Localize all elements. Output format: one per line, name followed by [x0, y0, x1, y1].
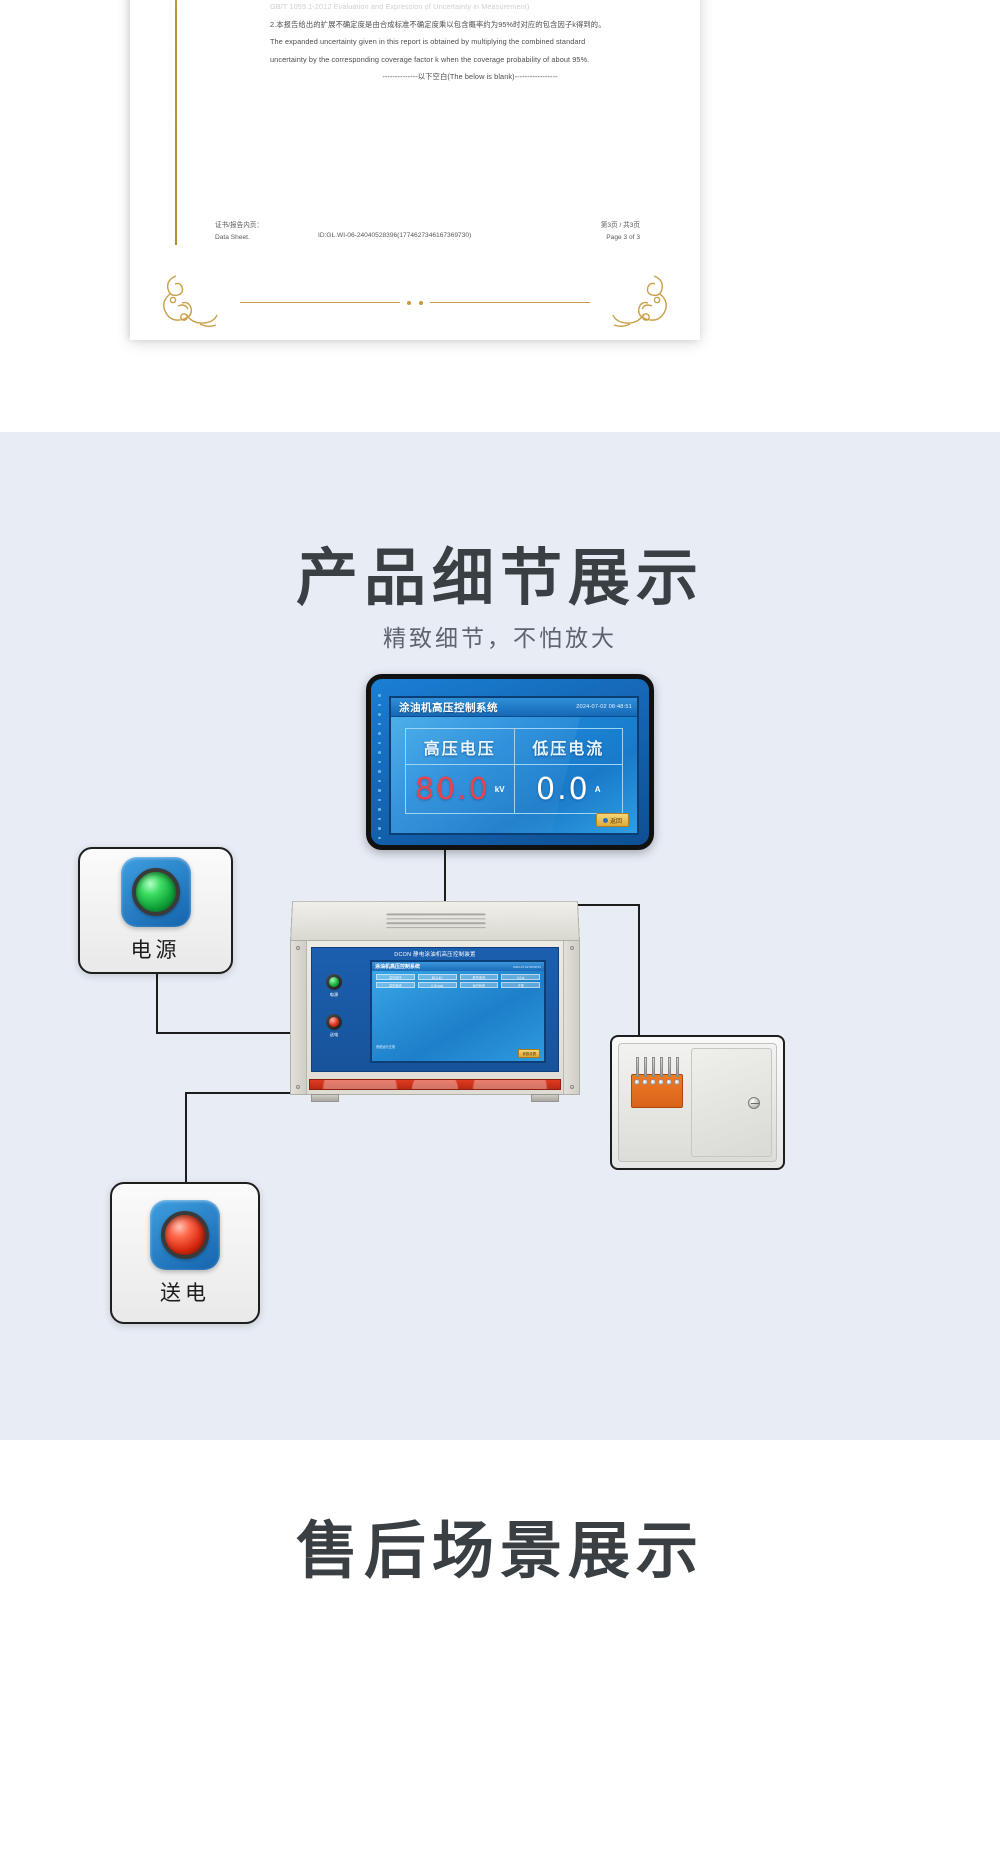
table-cell: 80.0 kV: [418, 974, 457, 980]
table-cell: 正常: [501, 982, 540, 988]
hmi-titlebar: 涂油机高压控制系统 2024-07-02 08:48:51: [391, 698, 637, 717]
callout-energize-indicator: 送电: [110, 1182, 260, 1324]
cert-id-text: ID:GL.WI-06-24040528396(1774627346167369…: [318, 230, 471, 242]
readout-unit: A: [595, 785, 601, 794]
cabinet-control-panel: DCON 静电涂油机高压控制装置 涂油机高压控制系统 2024-07-02 08…: [311, 947, 559, 1072]
terminal-screw-icon: [658, 1079, 664, 1085]
cabinet-embedded-hmi[interactable]: 涂油机高压控制系统 2024-07-02 08:48:51 高压电压 80.0 …: [370, 960, 546, 1063]
cabinet-front-face: DCON 静电涂油机高压控制装置 涂油机高压控制系统 2024-07-02 08…: [290, 940, 580, 1095]
cert-text-line: 2.本报告给出的扩展不确定度是由合成标准不确定度乘以包含概率约为95%时对应的包…: [270, 16, 670, 34]
terminal-box-inner: [618, 1043, 777, 1162]
cabinet-base-stripe: [309, 1079, 561, 1090]
connector-terminal-vertical: [638, 904, 640, 1035]
table-cell: 高压电压: [376, 974, 415, 980]
terminal-screw-icon: [642, 1079, 648, 1085]
callout-label: 送电: [160, 1277, 210, 1307]
cabinet-energize-knob-label: 送电: [324, 1032, 344, 1038]
hmi-readout-grid: 高压电压 80.0 kV 低压电流 0.0 A: [405, 728, 623, 814]
hmi-touchscreen[interactable]: 涂油机高压控制系统 2024-07-02 08:48:51 高压电压 80.0 …: [366, 674, 654, 850]
lock-icon: [748, 1097, 760, 1109]
certificate-footer-label: 证书/报告内页： Data Sheet.: [215, 220, 263, 243]
certificate-footer: 证书/报告内页： Data Sheet. ID:GL.WI-06-2404052…: [130, 220, 700, 300]
cert-text-line: uncertainty by the corresponding coverag…: [270, 51, 670, 69]
after-sales-section: 售后场景展示: [0, 1440, 1000, 1852]
readout-value: 0.0: [536, 772, 590, 807]
cert-text-line: The expanded uncertainty given in this r…: [270, 33, 670, 51]
bezel-dots-decoration: [378, 694, 383, 837]
page-subtitle: 精致细节，不怕放大: [0, 619, 1000, 653]
connector-energize-horizontal: [185, 1092, 303, 1094]
cert-label-cn: 证书/报告内页：: [215, 220, 263, 232]
table-cell: 高压电流: [376, 982, 415, 988]
hmi-title-text: 涂油机高压控制系统: [399, 700, 498, 715]
cabinet-right-rail: [563, 941, 579, 1094]
energize-lamp-icon[interactable]: [161, 1211, 209, 1259]
readout-value: 80.0: [415, 772, 490, 807]
cabinet-top-panel: [290, 901, 580, 942]
terminal-screw-icon: [674, 1079, 680, 1085]
page-title: 产品细节展示: [0, 527, 1000, 617]
table-cell: 0.00 mA: [418, 982, 457, 988]
control-cabinet: DCON 静电涂油机高压控制装置 涂油机高压控制系统 2024-07-02 08…: [290, 900, 580, 1095]
terminal-screw-icon: [634, 1079, 640, 1085]
cabinet-hmi-timestamp: 2024-07-02 08:48:51: [513, 965, 541, 969]
cabinet-foot: [311, 1094, 339, 1102]
table-cell: 0.0 A: [501, 974, 540, 980]
cert-text-line: GB/T 1059.1-2012 Evaluation and Expressi…: [270, 0, 670, 16]
hmi-back-button-label: 返回: [610, 816, 622, 825]
cabinet-left-rail: [291, 941, 307, 1094]
cabinet-hmi-status-note: 系统运行正常: [376, 1044, 395, 1049]
cabinet-power-knob-label: 电源: [324, 992, 344, 998]
cabinet-hmi-titlebar: 涂油机高压控制系统 2024-07-02 08:48:51: [372, 962, 544, 971]
hmi-readout-low-current: 低压电流 0.0 A: [514, 729, 623, 813]
certificate-section: GB/T 1059.1-2012 Evaluation and Expressi…: [0, 0, 1000, 430]
cert-blank-notice: --------------以下空白(The below is blank)--…: [270, 68, 670, 86]
hmi-back-button[interactable]: 返回: [596, 813, 629, 827]
terminal-block: [631, 1074, 683, 1108]
ornament-flourish-left-icon: [156, 268, 236, 334]
readout-label: 高压电压: [406, 729, 514, 765]
indicator-housing: [121, 857, 191, 927]
readout-label: 低压电流: [515, 729, 623, 765]
hmi-timestamp: 2024-07-02 08:48:51: [576, 704, 632, 710]
certificate-divider: [240, 298, 590, 308]
screw-icon: [570, 946, 574, 950]
certificate-id: ID:GL.WI-06-24040528396(1774627346167369…: [318, 230, 471, 242]
certificate-left-rule: [175, 0, 177, 245]
cabinet-power-knob[interactable]: [326, 974, 342, 990]
certificate-pagination: 第3页 / 共3页 Page 3 of 3: [601, 220, 640, 243]
ventilation-slots-icon: [386, 913, 486, 929]
table-cell: 低压电流: [460, 974, 499, 980]
hmi-readout-high-voltage: 高压电压 80.0 kV: [406, 729, 514, 813]
certificate-body: GB/T 1059.1-2012 Evaluation and Expressi…: [270, 0, 670, 86]
cabinet-energize-knob[interactable]: [326, 1014, 342, 1030]
ornament-flourish-right-icon: [594, 268, 674, 334]
screw-icon: [296, 1085, 300, 1089]
cert-page-cn: 第3页 / 共3页: [601, 220, 640, 232]
table-cell: 运行状态: [460, 982, 499, 988]
terminal-junction-box: [610, 1035, 785, 1170]
terminal-screw-icon: [650, 1079, 656, 1085]
cabinet-hmi-settings-button[interactable]: 参数设置: [518, 1049, 540, 1058]
readout-unit: kV: [495, 785, 505, 794]
base-wave-pattern: [310, 1080, 560, 1089]
table-row: 高压电流 0.00 mA 运行状态 正常: [376, 982, 540, 988]
knob-lens-icon: [329, 1017, 339, 1027]
cert-page-en: Page 3 of 3: [601, 232, 640, 244]
after-sales-title: 售后场景展示: [0, 1500, 1000, 1590]
hmi-screen[interactable]: 涂油机高压控制系统 2024-07-02 08:48:51 高压电压 80.0 …: [389, 696, 639, 835]
callout-power-indicator: 电源: [78, 847, 233, 974]
cabinet-hmi-data-rows: 高压电压 80.0 kV 低压电流 0.0 A 高压电流 0.00 mA 运行状…: [376, 974, 540, 990]
terminal-screw-icon: [666, 1079, 672, 1085]
connector-power-horizontal: [158, 1032, 298, 1034]
back-arrow-icon: [603, 818, 608, 823]
cabinet-brand-title: DCON 静电涂油机高压控制装置: [312, 950, 558, 958]
product-detail-section: 产品细节展示 精致细节，不怕放大 涂油机高压控制系统 2024-07-02 08…: [0, 432, 1000, 1440]
indicator-housing: [150, 1200, 220, 1270]
knob-lens-icon: [329, 977, 339, 987]
screw-icon: [570, 1085, 574, 1089]
cabinet-hmi-title: 涂油机高压控制系统: [375, 963, 420, 970]
certificate-page: GB/T 1059.1-2012 Evaluation and Expressi…: [130, 0, 700, 340]
callout-label: 电源: [131, 934, 181, 964]
screw-icon: [296, 946, 300, 950]
power-lamp-icon[interactable]: [132, 868, 180, 916]
cert-label-en: Data Sheet.: [215, 232, 263, 244]
cabinet-foot: [531, 1094, 559, 1102]
table-row: 高压电压 80.0 kV 低压电流 0.0 A: [376, 974, 540, 980]
